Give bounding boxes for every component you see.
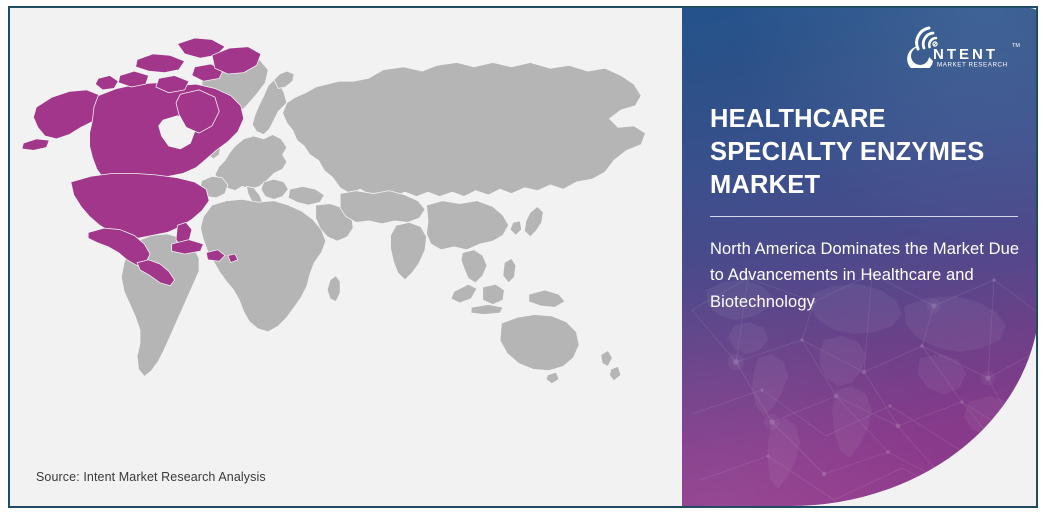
country-korea: [510, 221, 522, 235]
country-java: [471, 304, 503, 314]
logo-tagline-text: MARKET RESEARCH: [937, 62, 1008, 69]
infographic-card: Source: Intent Market Research Analysis: [8, 6, 1038, 508]
country-tasmania: [546, 372, 559, 384]
continent-australia: [500, 315, 579, 371]
intent-market-research-logo: NTENT TM MARKET RESEARCH: [898, 18, 1022, 68]
world-map-graphic: [10, 12, 700, 432]
country-madagascar: [327, 276, 340, 302]
country-new-zealand: [601, 351, 613, 367]
arctic-island-a: [136, 54, 185, 73]
country-india: [391, 222, 427, 280]
logo-brand-text: NTENT: [933, 46, 998, 63]
screenshot-frame: Source: Intent Market Research Analysis: [0, 0, 1043, 513]
title-divider: [710, 216, 1018, 217]
country-norway-coast: [274, 71, 294, 88]
source-label: Source: Intent Market Research Analysis: [36, 470, 266, 484]
region-balkans: [261, 179, 288, 199]
country-russia: [283, 63, 646, 197]
continent-africa: [200, 199, 325, 331]
country-sumatra: [451, 284, 477, 303]
region-central-asia: [340, 191, 425, 224]
arctic-island-f: [95, 75, 118, 89]
page-title: HEALTHCARE SPECIALTY ENZYMES MARKET: [710, 103, 1022, 202]
panel-subtitle: North America Dominates the Market Due t…: [710, 236, 1028, 315]
country-turkey: [288, 186, 324, 205]
country-philippines: [503, 258, 516, 282]
logo-letter-i: [907, 47, 933, 68]
title-panel: NTENT TM MARKET RESEARCH HEALTHCARE SPEC…: [682, 8, 1038, 506]
country-japan: [524, 207, 543, 237]
logo-graphic: NTENT TM MARKET RESEARCH: [898, 18, 1022, 68]
alaska-aleutians: [22, 139, 49, 151]
world-map-panel: Source: Intent Market Research Analysis: [10, 8, 700, 506]
country-new-zealand-south: [609, 366, 621, 380]
arctic-island-c: [118, 71, 148, 87]
country-china: [427, 201, 509, 250]
region-southeast-asia: [461, 250, 487, 283]
country-new-guinea: [529, 290, 565, 307]
country-borneo: [483, 284, 505, 304]
logo-trademark-text: TM: [1012, 43, 1020, 49]
